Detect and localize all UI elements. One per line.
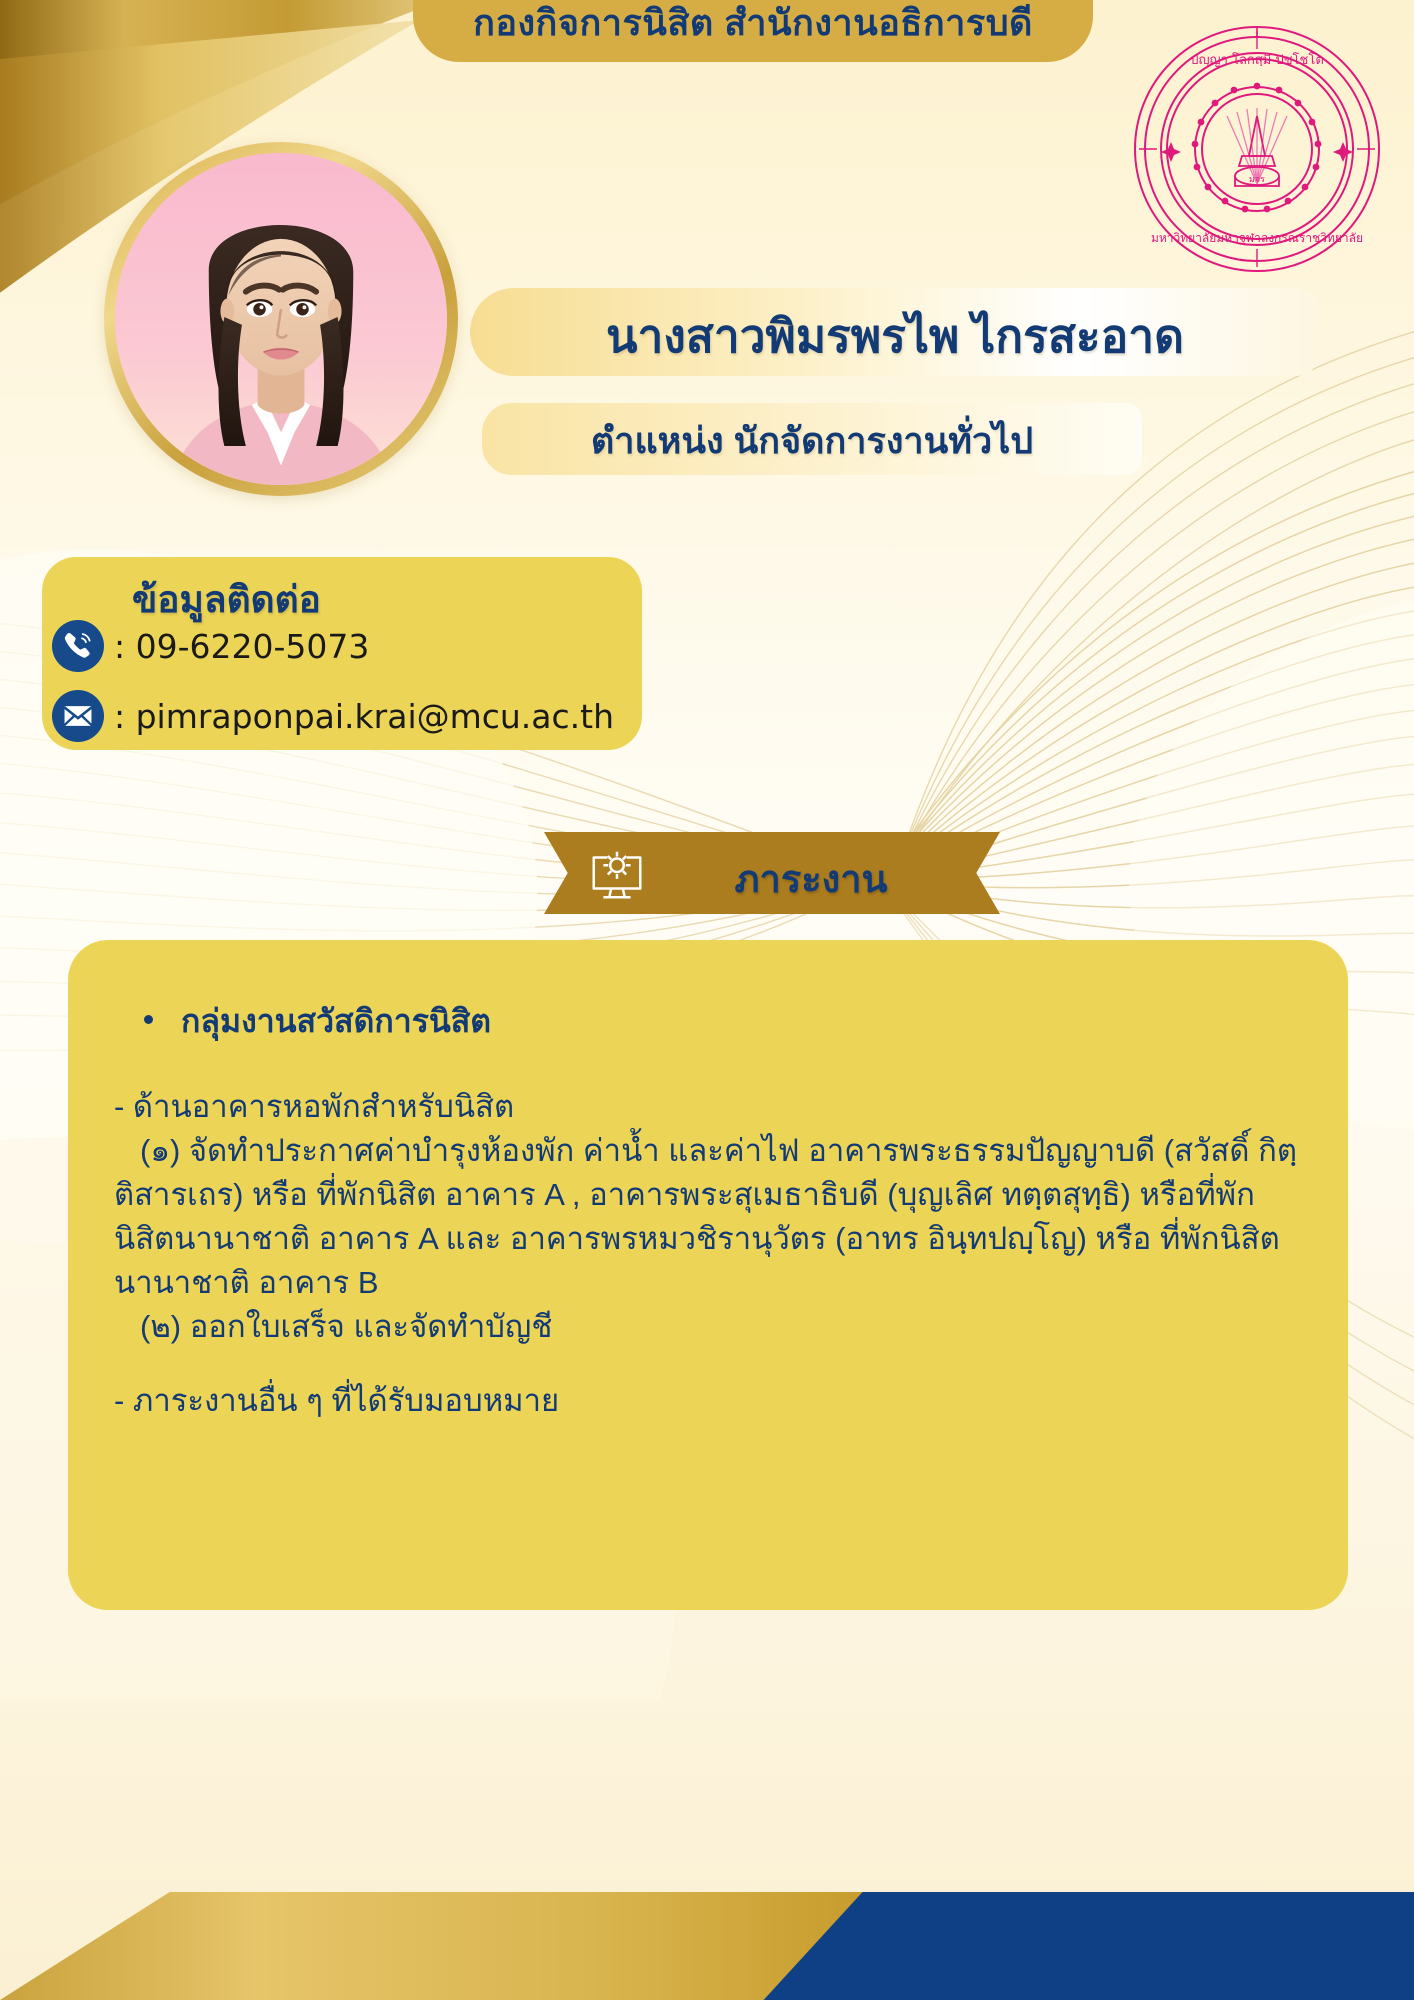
duties-banner: ภาระงาน	[544, 832, 1000, 914]
duties-item-1: (๑) จัดทำประกาศค่าบำรุงห้องพัก ค่าน้ำ แล…	[114, 1129, 1302, 1305]
duties-group-heading-row: กลุ่มงานสวัสดิการนิสิต	[144, 996, 1302, 1047]
contact-phone-row[interactable]: : 09-6220-5073	[52, 620, 369, 672]
duties-section-1: - ด้านอาคารหอพักสำหรับนิสิต	[114, 1085, 1302, 1129]
university-seal-icon: มจร ปญฺญา โลกสฺมิ ปชฺโชโต มหาวิทยาลัยมหา…	[1132, 24, 1382, 274]
profile-poster: กองกิจการนิสิต สำนักงานอธิการบดี	[0, 0, 1414, 2000]
page-title: กองกิจการนิสิต สำนักงานอธิการบดี	[413, 0, 1093, 51]
duties-item-2: (๒) ออกใบเสร็จ และจัดทำบัญชี	[114, 1305, 1302, 1349]
contact-email-row[interactable]: : pimraponpai.krai@mcu.ac.th	[52, 690, 614, 742]
email-address: : pimraponpai.krai@mcu.ac.th	[114, 697, 614, 736]
envelope-icon	[52, 690, 104, 742]
phone-icon	[52, 620, 104, 672]
duties-banner-label: ภาระงาน	[544, 848, 1000, 909]
duties-content-box: กลุ่มงานสวัสดิการนิสิต - ด้านอาคารหอพักส…	[68, 940, 1348, 1610]
person-position: ตำแหน่ง นักจัดการงานทั่วไป	[482, 412, 1142, 469]
svg-text:มหาวิทยาลัยมหาจุฬาลงกรณราชวิทย: มหาวิทยาลัยมหาจุฬาลงกรณราชวิทยาลัย	[1151, 231, 1363, 246]
person-name: นางสาวพิมรพรไพ ไกรสะอาด	[470, 300, 1320, 373]
avatar	[104, 142, 458, 496]
duties-group-heading: กลุ่มงานสวัสดิการนิสิต	[181, 996, 491, 1047]
phone-number: : 09-6220-5073	[114, 627, 369, 666]
portrait-photo	[115, 153, 447, 485]
duties-section-2: - ภาระงานอื่น ๆ ที่ได้รับมอบหมาย	[114, 1379, 1302, 1423]
bullet-icon	[144, 1015, 153, 1024]
svg-text:ปญฺญา โลกสฺมิ ปชฺโชโต: ปญฺญา โลกสฺมิ ปชฺโชโต	[1190, 52, 1324, 68]
svg-text:มจร: มจร	[1249, 175, 1265, 185]
